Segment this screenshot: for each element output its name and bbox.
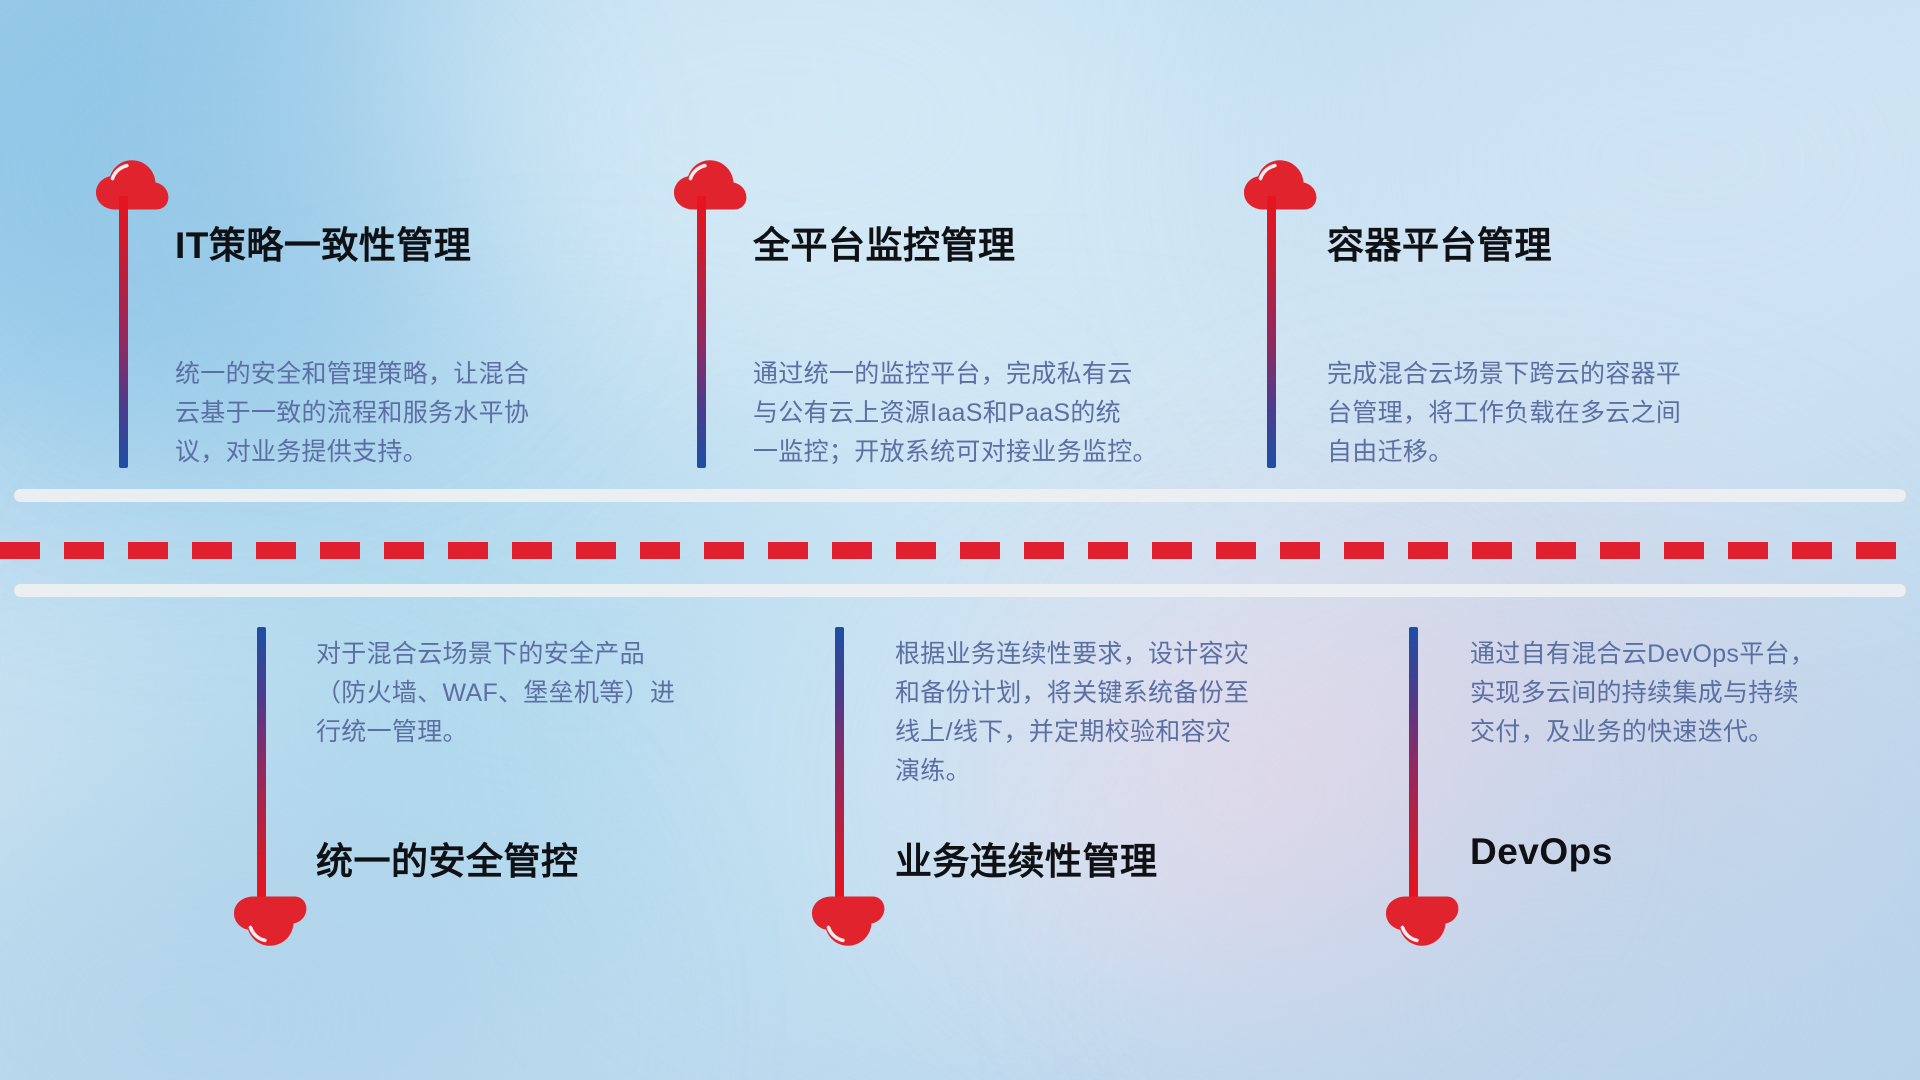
item-title: DevOps — [1470, 831, 1613, 873]
item-body: 通过统一的监控平台，完成私有云 与公有云上资源IaaS和PaaS的统 一监控；开… — [753, 355, 1213, 472]
item-title: 全平台监控管理 — [753, 215, 1016, 269]
divider-bar-top — [14, 489, 1906, 502]
item-title: IT策略一致性管理 — [175, 215, 471, 269]
item-title: 统一的安全管控 — [316, 831, 579, 885]
timeline-stem — [257, 627, 266, 899]
cloud-icon — [1385, 896, 1459, 948]
item-body: 统一的安全和管理策略，让混合 云基于一致的流程和服务水平协 议，对业务提供支持。 — [175, 355, 615, 472]
cloud-icon — [95, 158, 169, 210]
timeline-stem — [1409, 627, 1418, 899]
item-title: 容器平台管理 — [1327, 215, 1552, 269]
item-body: 完成混合云场景下跨云的容器平 台管理，将工作负载在多云之间 自由迁移。 — [1327, 355, 1777, 472]
timeline-stem — [1267, 196, 1276, 468]
cloud-icon — [811, 896, 885, 948]
cloud-icon — [673, 158, 747, 210]
item-title: 业务连续性管理 — [895, 831, 1158, 885]
timeline-stem — [119, 196, 128, 468]
item-body: 通过自有混合云DevOps平台， 实现多云间的持续集成与持续 交付，及业务的快速… — [1470, 635, 1910, 752]
cloud-icon — [1243, 158, 1317, 210]
divider-bar-bottom — [14, 584, 1906, 597]
dashed-red-line — [0, 542, 1920, 559]
infographic-canvas: IT策略一致性管理 统一的安全和管理策略，让混合 云基于一致的流程和服务水平协 … — [0, 0, 1920, 1080]
cloud-icon — [233, 896, 307, 948]
item-body: 对于混合云场景下的安全产品 （防火墙、WAF、堡垒机等）进 行统一管理。 — [316, 635, 756, 752]
item-body: 根据业务连续性要求，设计容灾 和备份计划，将关键系统备份至 线上/线下，并定期校… — [895, 635, 1345, 791]
timeline-stem — [697, 196, 706, 468]
timeline-stem — [835, 627, 844, 899]
